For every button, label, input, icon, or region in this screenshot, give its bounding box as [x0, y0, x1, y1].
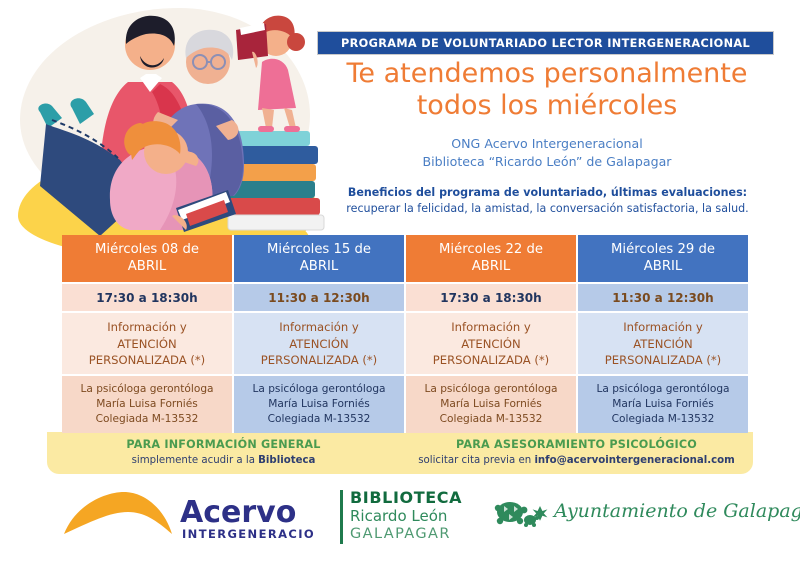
schedule-column-1: Miércoles 08 de ABRIL 17:30 a 18:30h Inf… [62, 235, 234, 433]
family-reading-illustration [0, 0, 330, 245]
schedule-service-line3-4: PERSONALIZADA (*) [605, 352, 721, 368]
acervo-logo: Acervo INTERGENERACIONAL [60, 490, 315, 546]
schedule-date-line2-3: ABRIL [472, 259, 510, 276]
schedule-time-3: 17:30 a 18:30h [406, 284, 576, 313]
schedule-date-line1-2: Miércoles 15 de [267, 242, 371, 259]
schedule-professional-role-4: La psicóloga gerontóloga [596, 382, 729, 397]
footer-psych-email: info@acervointergeneracional.com [534, 455, 734, 466]
schedule-service-line2-4: ATENCIÓN [633, 336, 692, 352]
program-banner-text: PROGRAMA DE VOLUNTARIADO LECTOR INTERGEN… [341, 37, 750, 50]
schedule-service-line2-1: ATENCIÓN [117, 336, 176, 352]
schedule-table: Miércoles 08 de ABRIL 17:30 a 18:30h Inf… [62, 235, 748, 433]
schedule-date-line1-4: Miércoles 29 de [611, 242, 715, 259]
benefits-detail: recuperar la felicidad, la amistad, la c… [300, 201, 795, 217]
schedule-professional-role-1: La psicóloga gerontóloga [80, 382, 213, 397]
schedule-service-3: Información y ATENCIÓN PERSONALIZADA (*) [406, 313, 576, 376]
page-title: Te atendemos personalmente todos los mié… [317, 58, 777, 122]
footer-general-info-title: PARA INFORMACIÓN GENERAL [47, 438, 400, 453]
acervo-arch-icon [64, 492, 172, 534]
biblioteca-line-2: Ricardo León [350, 507, 447, 525]
schedule-professional-license-3: Colegiada M-13532 [440, 412, 543, 427]
page-title-line-2: todos los miércoles [317, 90, 777, 122]
biblioteca-line-3: GALAPAGAR [350, 526, 451, 542]
schedule-professional-license-4: Colegiada M-13532 [612, 412, 715, 427]
schedule-service-2: Información y ATENCIÓN PERSONALIZADA (*) [234, 313, 404, 376]
schedule-professional-license-2: Colegiada M-13532 [268, 412, 371, 427]
ayuntamiento-turtle-icon [492, 496, 550, 530]
ayuntamiento-logo: Ayuntamiento de Galapagar [492, 496, 792, 540]
footer-psych-info-prefix: solicitar cita previa en [418, 455, 534, 466]
schedule-date-line1-3: Miércoles 22 de [439, 242, 543, 259]
ayuntamiento-wordmark: Ayuntamiento de Galapagar [554, 500, 800, 522]
schedule-date-header-4: Miércoles 29 de ABRIL [578, 235, 748, 284]
schedule-date-line2-1: ABRIL [128, 259, 166, 276]
schedule-professional-name-4: María Luisa Forniés [612, 397, 714, 412]
footer-general-info-sub: simplemente acudir a la Biblioteca [47, 454, 400, 468]
logo-row: Acervo INTERGENERACIONAL BIBLIOTECA Rica… [0, 482, 800, 566]
schedule-professional-name-3: María Luisa Forniés [440, 397, 542, 412]
program-banner: PROGRAMA DE VOLUNTARIADO LECTOR INTERGEN… [317, 31, 774, 55]
schedule-professional-role-3: La psicóloga gerontóloga [424, 382, 557, 397]
schedule-date-line2-4: ABRIL [644, 259, 682, 276]
schedule-professional-name-2: María Luisa Forniés [268, 397, 370, 412]
schedule-column-4: Miércoles 29 de ABRIL 11:30 a 12:30h Inf… [578, 235, 748, 433]
schedule-service-4: Información y ATENCIÓN PERSONALIZADA (*) [578, 313, 748, 376]
schedule-professional-2: La psicóloga gerontóloga María Luisa For… [234, 376, 404, 433]
schedule-time-text-3: 17:30 a 18:30h [440, 291, 541, 305]
schedule-service-line2-3: ATENCIÓN [461, 336, 520, 352]
schedule-date-header-1: Miércoles 08 de ABRIL [62, 235, 232, 284]
schedule-time-text-4: 11:30 a 12:30h [612, 291, 713, 305]
acervo-wordmark: Acervo [180, 495, 296, 530]
schedule-column-3: Miércoles 22 de ABRIL 17:30 a 18:30h Inf… [406, 235, 578, 433]
schedule-service-line1-4: Información y [623, 319, 703, 335]
schedule-service-line3-3: PERSONALIZADA (*) [433, 352, 549, 368]
biblioteca-bar-icon [340, 490, 343, 544]
schedule-date-line2-2: ABRIL [300, 259, 338, 276]
acervo-tagline: INTERGENERACIONAL [182, 527, 315, 541]
schedule-time-2: 11:30 a 12:30h [234, 284, 404, 313]
page-title-line-1: Te atendemos personalmente [317, 58, 777, 90]
schedule-service-line2-2: ATENCIÓN [289, 336, 348, 352]
benefits-block: Beneficios del programa de voluntariado,… [300, 185, 795, 217]
biblioteca-line-1: BIBLIOTECA [350, 488, 462, 507]
schedule-professional-role-2: La psicóloga gerontóloga [252, 382, 385, 397]
benefits-heading: Beneficios del programa de voluntariado,… [300, 185, 795, 201]
biblioteca-logo: BIBLIOTECA Ricardo León GALAPAGAR [340, 488, 480, 548]
schedule-service-line3-1: PERSONALIZADA (*) [89, 352, 205, 368]
schedule-time-text-2: 11:30 a 12:30h [268, 291, 369, 305]
schedule-service-line1-3: Información y [451, 319, 531, 335]
footer-general-info: PARA INFORMACIÓN GENERAL simplemente acu… [47, 432, 400, 474]
schedule-service-line1-1: Información y [107, 319, 187, 335]
schedule-professional-4: La psicóloga gerontóloga María Luisa For… [578, 376, 748, 433]
footer-psych-info-sub: solicitar cita previa en info@acervointe… [400, 454, 753, 468]
poster-root: PROGRAMA DE VOLUNTARIADO LECTOR INTERGEN… [0, 0, 800, 566]
footer-general-info-strong: Biblioteca [258, 455, 315, 466]
schedule-date-header-3: Miércoles 22 de ABRIL [406, 235, 576, 284]
footer-info-band: PARA INFORMACIÓN GENERAL simplemente acu… [47, 432, 753, 474]
schedule-service-1: Información y ATENCIÓN PERSONALIZADA (*) [62, 313, 232, 376]
schedule-time-1: 17:30 a 18:30h [62, 284, 232, 313]
person-girl [236, 16, 305, 132]
schedule-professional-license-1: Colegiada M-13532 [96, 412, 199, 427]
schedule-service-line1-2: Información y [279, 319, 359, 335]
schedule-professional-3: La psicóloga gerontóloga María Luisa For… [406, 376, 576, 433]
schedule-time-text-1: 17:30 a 18:30h [96, 291, 197, 305]
schedule-column-2: Miércoles 15 de ABRIL 11:30 a 12:30h Inf… [234, 235, 406, 433]
organisation-name: ONG Acervo Intergeneracional [317, 135, 777, 153]
footer-psych-info: PARA ASESORAMIENTO PSICOLÓGICO solicitar… [400, 432, 753, 474]
organisation-info: ONG Acervo Intergeneracional Biblioteca … [317, 135, 777, 171]
schedule-date-header-2: Miércoles 15 de ABRIL [234, 235, 404, 284]
library-name: Biblioteca “Ricardo León” de Galapagar [317, 153, 777, 171]
schedule-professional-name-1: María Luisa Forniés [96, 397, 198, 412]
schedule-time-4: 11:30 a 12:30h [578, 284, 748, 313]
schedule-date-line1-1: Miércoles 08 de [95, 242, 199, 259]
footer-general-info-prefix: simplemente acudir a la [132, 455, 259, 466]
schedule-professional-1: La psicóloga gerontóloga María Luisa For… [62, 376, 232, 433]
schedule-service-line3-2: PERSONALIZADA (*) [261, 352, 377, 368]
footer-psych-info-title: PARA ASESORAMIENTO PSICOLÓGICO [400, 438, 753, 453]
